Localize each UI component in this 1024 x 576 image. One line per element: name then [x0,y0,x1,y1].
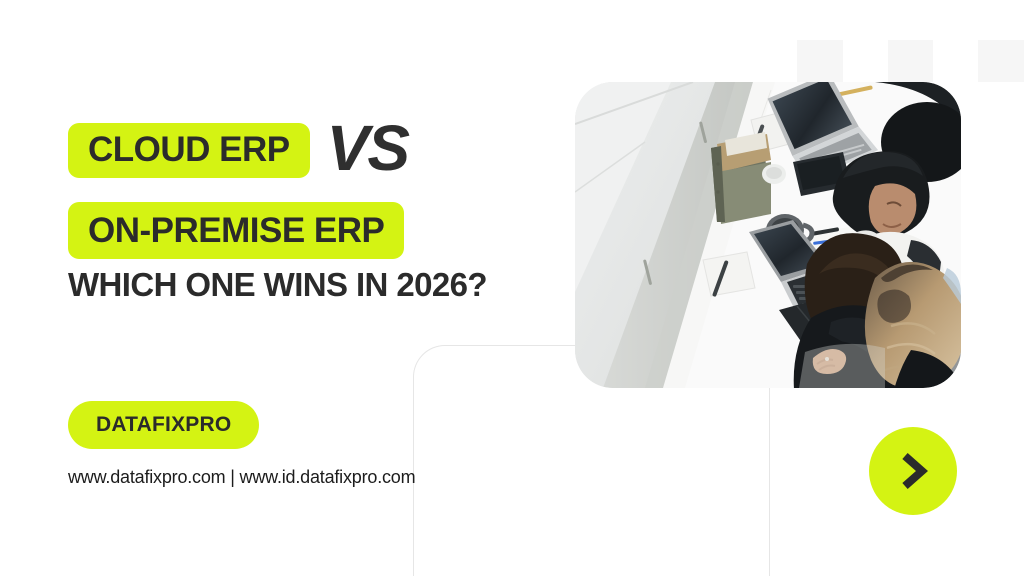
office-photo-illustration [575,82,961,388]
decorative-bar [978,40,1024,82]
brand-urls: www.datafixpro.com | www.id.datafixpro.c… [68,467,415,488]
headline-group: CLOUD ERP VS ON-PREMISE ERP [68,118,408,259]
brand-badge: DATAFIXPRO [68,401,259,449]
office-photo-card [575,82,961,388]
next-slide-button[interactable] [869,427,957,515]
headline-row-two: ON-PREMISE ERP [68,182,408,259]
chevron-right-icon [898,451,928,491]
decorative-bars [797,40,1024,82]
headline-row-one: CLOUD ERP VS [68,118,408,182]
decorative-bar [888,40,934,82]
headline-badge-on-premise-erp: ON-PREMISE ERP [68,202,404,259]
headline-badge-cloud-erp: CLOUD ERP [68,123,310,178]
decorative-bar [797,40,843,82]
headline-subtitle: WHICH ONE WINS IN 2026? [68,266,487,304]
headline-versus-label: VS [327,116,408,180]
slide-canvas: CLOUD ERP VS ON-PREMISE ERP WHICH ONE WI… [0,0,1024,576]
